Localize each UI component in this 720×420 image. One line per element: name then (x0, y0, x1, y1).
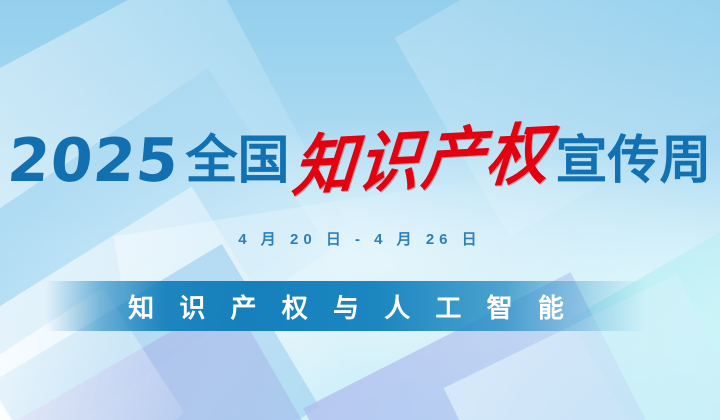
theme-banner-text: 知 识 产 权 与 人 工 智 能 (46, 281, 646, 331)
headline-emphasis: 知识产权 (290, 121, 553, 201)
headline-suffix: 宣传周 (556, 135, 712, 187)
headline-nationwide: 全国 (185, 135, 289, 187)
headline: 2025 全国 知识产权 宣传周 (0, 118, 720, 204)
poster-canvas: 2025 全国 知识产权 宣传周 4 月 20 日 - 4 月 26 日 知 识… (0, 0, 720, 420)
headline-year: 2025 (6, 131, 182, 191)
date-range: 4 月 20 日 - 4 月 26 日 (0, 228, 720, 249)
